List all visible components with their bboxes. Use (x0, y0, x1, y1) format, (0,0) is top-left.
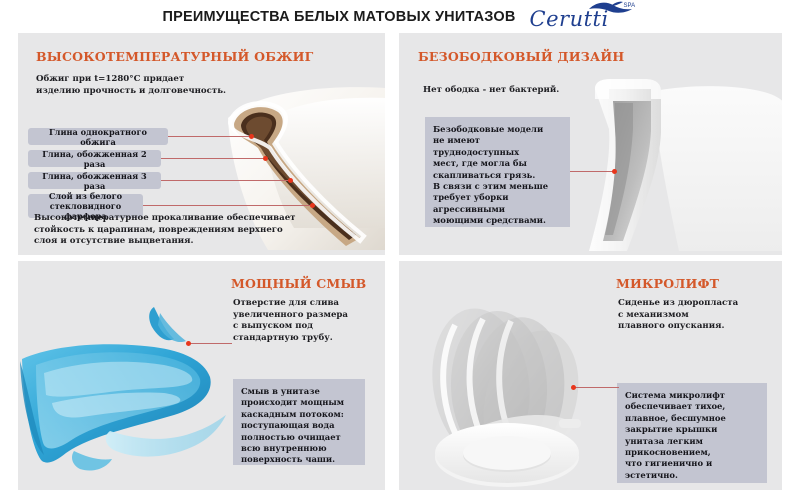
rimless-bowl-image (559, 73, 782, 253)
leader-line-4 (143, 205, 313, 206)
panel-title-flush: МОЩНЫЙ СМЫВ (231, 276, 366, 291)
panel-intro-flush: Отверстие для слива увеличенного размера… (233, 298, 385, 344)
panel-intro-microlift: Сиденье из дюропласта с механизмом плавн… (618, 298, 782, 333)
callout-flush: Смыв в унитазе происходит мощным каскадн… (233, 379, 365, 465)
brand-trademark: SPA (624, 3, 636, 9)
brand-logo: Cerutti SPA (528, 2, 638, 32)
panel-title-rimless: БЕЗОБОДКОВЫЙ ДИЗАЙН (418, 49, 624, 64)
leader-dot-2 (263, 156, 268, 161)
water-svg (18, 303, 239, 483)
leader-line-2 (161, 158, 266, 159)
leader-dot-flush (186, 341, 191, 346)
blue-water-swirl-image (18, 303, 239, 483)
panel-powerful-flush: МОЩНЫЙ СМЫВ Отверстие для слива увеличен… (18, 261, 385, 490)
leader-dot-1 (249, 134, 254, 139)
page-title: ПРЕИМУЩЕСТВА БЕЛЫХ МАТОВЫХ УНИТАЗОВ (162, 9, 515, 25)
panel-title-microlift: МИКРОЛИФТ (616, 276, 719, 291)
leader-dot-rimless (612, 169, 617, 174)
leader-dot-microlift (571, 385, 576, 390)
leader-dot-3 (288, 178, 293, 183)
layer-chip-2: Глина, обожженная 2 раза (28, 150, 161, 167)
panel-soft-close-microlift: МИКРОЛИФТ Сиденье из дюропласта с механи… (399, 261, 782, 490)
leader-line-microlift (575, 387, 619, 388)
panel-footer-firing: Высокотемпературное прокаливание обеспеч… (34, 213, 374, 248)
brand-name: Cerutti (530, 7, 609, 31)
panel-high-temperature-firing: ВЫСОКОТЕМПЕРАТУРНЫЙ ОБЖИГ Обжиг при t=12… (18, 33, 385, 255)
panel-title-firing: ВЫСОКОТЕМПЕРАТУРНЫЙ ОБЖИГ (36, 49, 314, 64)
layer-chip-3: Глина, обожженная 3 раза (28, 172, 161, 189)
leader-line-rimless (570, 171, 615, 172)
leader-line-1 (168, 136, 252, 137)
callout-rimless: Безободковые модели не имеют труднодосту… (425, 117, 570, 227)
seat-svg (411, 299, 611, 487)
leader-dot-4 (310, 203, 315, 208)
toilet-seat-image (411, 299, 611, 487)
infographic-page: ПРЕИМУЩЕСТВА БЕЛЫХ МАТОВЫХ УНИТАЗОВ Ceru… (0, 0, 800, 490)
layer-chip-1: Глина однократного обжига (28, 128, 168, 145)
callout-microlift: Система микролифт обеспечивает тихое, пл… (617, 383, 767, 483)
page-header: ПРЕИМУЩЕСТВА БЕЛЫХ МАТОВЫХ УНИТАЗОВ Ceru… (0, 0, 800, 33)
panel-rimless-design: БЕЗОБОДКОВЫЙ ДИЗАЙН Нет ободка - нет бак… (399, 33, 782, 255)
rimless-svg (559, 73, 782, 253)
leader-line-flush (190, 343, 232, 344)
leader-line-3 (161, 180, 291, 181)
panel-grid: ВЫСОКОТЕМПЕРАТУРНЫЙ ОБЖИГ Обжиг при t=12… (0, 33, 800, 490)
